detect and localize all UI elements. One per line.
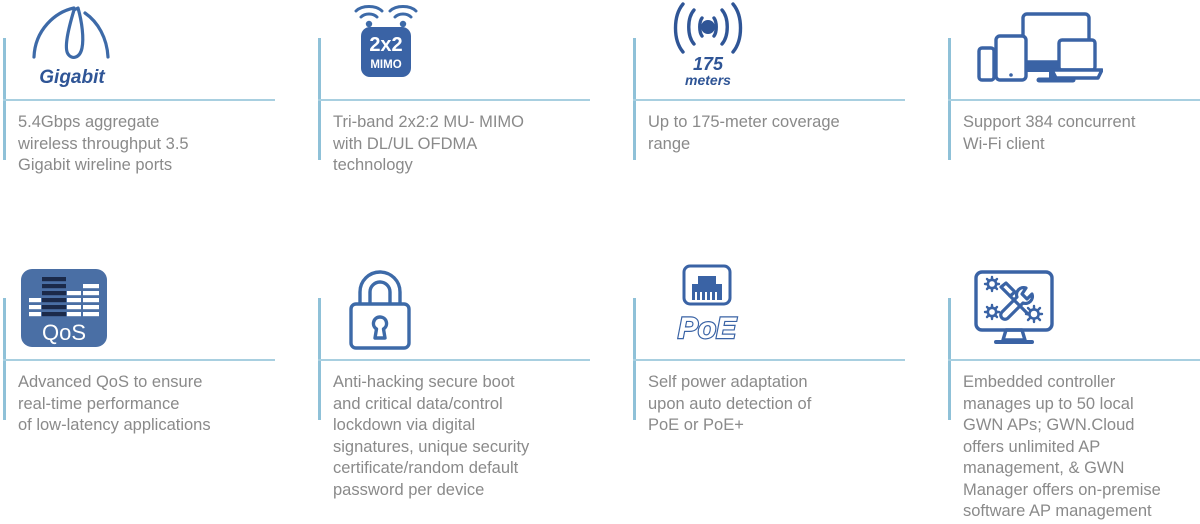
divider-horizontal <box>3 359 275 361</box>
coverage-range-icon: 175 meters <box>663 0 763 88</box>
divider-horizontal <box>318 359 590 361</box>
feature-description: Self power adaptation upon auto detectio… <box>648 372 916 437</box>
divider-horizontal <box>948 99 1200 101</box>
coverage-icon-sublabel: meters <box>685 72 731 88</box>
feature-description: Tri-band 2x2:2 MU- MIMO with DL/UL OFDMA… <box>333 112 601 177</box>
divider-horizontal <box>633 99 905 101</box>
feature-card-security: Anti-hacking secure boot and critical da… <box>315 262 630 524</box>
feature-description: Anti-hacking secure boot and critical da… <box>333 372 601 501</box>
divider-horizontal <box>948 359 1200 361</box>
feature-description: 5.4Gbps aggregate wireless throughput 3.… <box>18 112 286 177</box>
qos-icon-label: QoS <box>42 320 86 345</box>
feature-description: Up to 175-meter coverage range <box>648 112 916 155</box>
feature-card-poe: PoE Self power adaptation upon auto dete… <box>630 262 945 524</box>
qos-equalizer-icon: QoS <box>20 268 112 356</box>
mimo-icon-sublabel: MIMO <box>370 59 401 71</box>
two-by-two-mimo-icon: 2x2 MIMO <box>347 0 442 88</box>
feature-card-gigabit: Gigabit 5.4Gbps aggregate wireless throu… <box>0 0 315 262</box>
feature-row-top: Gigabit 5.4Gbps aggregate wireless throu… <box>0 0 1200 262</box>
gigabit-throughput-icon: Gigabit <box>22 0 132 88</box>
mimo-icon-label: 2x2 <box>369 34 402 56</box>
poe-icon-label: PoE <box>678 312 737 345</box>
poe-ethernet-port-icon: PoE <box>663 262 763 350</box>
feature-description: Embedded controller manages up to 50 loc… <box>963 372 1200 523</box>
padlock-security-icon <box>343 266 429 354</box>
divider-horizontal <box>633 359 905 361</box>
feature-card-mimo: 2x2 MIMO Tri-band 2x2:2 MU- MIMO with DL… <box>315 0 630 262</box>
gigabit-icon-label: Gigabit <box>39 67 105 88</box>
divider-horizontal <box>318 99 590 101</box>
feature-card-coverage: 175 meters Up to 175-meter coverage rang… <box>630 0 945 262</box>
feature-card-qos: QoS Advanced QoS to ensure real-time per… <box>0 262 315 524</box>
multi-device-clients-icon <box>973 8 1103 96</box>
feature-card-clients: Support 384 concurrent Wi-Fi client <box>945 0 1200 262</box>
divider-horizontal <box>3 99 275 101</box>
feature-grid: Gigabit 5.4Gbps aggregate wireless throu… <box>0 0 1200 524</box>
feature-description: Advanced QoS to ensure real-time perform… <box>18 372 286 437</box>
feature-row-bottom: QoS Advanced QoS to ensure real-time per… <box>0 262 1200 524</box>
feature-card-controller: Embedded controller manages up to 50 loc… <box>945 262 1200 524</box>
feature-description: Support 384 concurrent Wi-Fi client <box>963 112 1200 155</box>
embedded-controller-monitor-icon <box>970 266 1066 354</box>
coverage-icon-label: 175 <box>693 54 724 74</box>
